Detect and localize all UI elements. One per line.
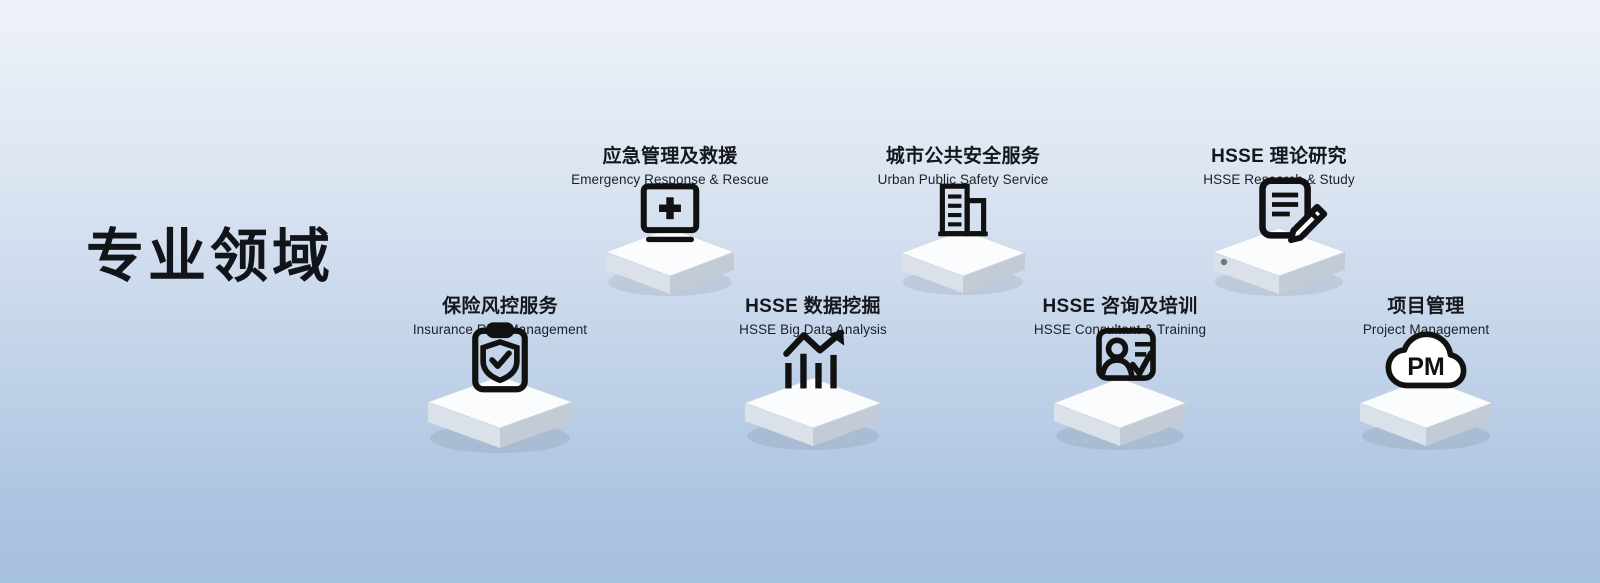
field-title: 应急管理及救援 — [520, 146, 820, 168]
field-card-urban-public-safety[interactable]: 城市公共安全服务 Urban Public Safety Service — [813, 146, 1113, 304]
field-card-hsse-consultant[interactable]: HSSE 咨询及培训 HSSE Consultant & Training — [970, 296, 1270, 454]
first-aid-monitor-icon — [635, 182, 705, 252]
field-card-hsse-research[interactable]: HSSE 理论研究 HSSE Research & Study — [1129, 146, 1429, 304]
clipboard-shield-check-icon — [464, 324, 536, 396]
pedestal-hsse-consultant — [970, 344, 1270, 454]
field-title: 城市公共安全服务 — [813, 146, 1113, 168]
person-id-check-icon — [1090, 324, 1162, 396]
field-title: HSSE 理论研究 — [1129, 146, 1429, 168]
pedestal-urban-public-safety — [813, 194, 1113, 304]
pedestal-emergency-response — [520, 194, 820, 304]
field-card-project-management[interactable]: 项目管理 Project Management PM — [1276, 296, 1576, 454]
document-pencil-icon — [1253, 176, 1329, 252]
pedestal-project-management: PM — [1276, 344, 1576, 454]
field-card-emergency-response[interactable]: 应急管理及救援 Emergency Response & Rescue — [520, 146, 820, 304]
field-title: 保险风控服务 — [350, 296, 650, 318]
page-title: 专业领域 — [86, 228, 334, 286]
pedestal-insurance-risk — [350, 344, 650, 454]
cloud-pm-label: PM — [1407, 354, 1445, 382]
pedestal-hsse-research — [1129, 194, 1429, 304]
field-title: HSSE 咨询及培训 — [970, 296, 1270, 318]
city-buildings-icon — [930, 180, 996, 246]
cloud-pm-icon: PM — [1385, 330, 1467, 400]
professional-fields-banner: 专业领域 应急管理及救援 Emergency Response & Rescue… — [0, 0, 1600, 583]
field-card-hsse-big-data[interactable]: HSSE 数据挖掘 HSSE Big Data Analysis — [663, 296, 963, 454]
field-card-insurance-risk[interactable]: 保险风控服务 Insurance Risk Management — [350, 296, 650, 454]
pedestal-hsse-big-data — [663, 344, 963, 454]
bar-chart-trend-icon — [776, 326, 850, 400]
field-title: 项目管理 — [1276, 296, 1576, 318]
field-title: HSSE 数据挖掘 — [663, 296, 963, 318]
